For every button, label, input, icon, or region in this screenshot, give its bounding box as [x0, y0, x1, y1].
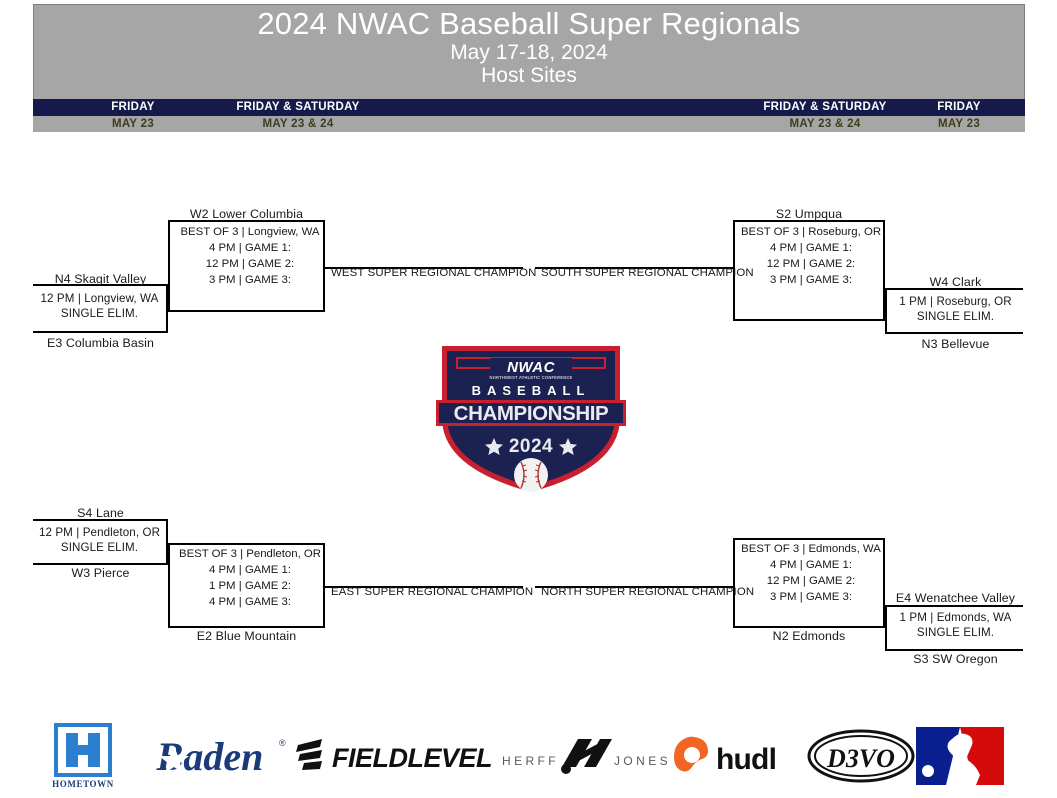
- east-playin-format: SINGLE ELIM.: [33, 541, 166, 554]
- logo-org-subtext: NORTHWEST ATHLETIC CONFERENCE: [490, 375, 573, 380]
- east-champion-label: EAST SUPER REGIONAL CHAMPION: [331, 586, 533, 598]
- south-playin-top-seed: W4 Clark: [888, 275, 1023, 289]
- south-playin-bottom-seed: N3 Bellevue: [888, 337, 1023, 351]
- east-series-bottom-seed: E2 Blue Mountain: [168, 629, 325, 643]
- north-series-format: BEST OF 3 | Edmonds, WA: [738, 541, 884, 557]
- south-series-game-1: 4 PM | GAME 1:: [738, 240, 884, 256]
- south-champion-label: SOUTH SUPER REGIONAL CHAMPION: [541, 267, 754, 279]
- north-series-bottom-seed: N2 Edmonds: [733, 629, 885, 643]
- east-series-game-3: 4 PM | GAME 3:: [175, 594, 325, 610]
- schedule-date-4: MAY 23: [893, 116, 1025, 132]
- page-dates: May 17-18, 2024: [33, 42, 1025, 64]
- schedule-date-row: MAY 23 MAY 23 & 24 MAY 23 & 24 MAY 23: [33, 116, 1025, 132]
- west-playin-top-seed: N4 Skagit Valley: [33, 272, 168, 286]
- sponsor-mlb: [912, 714, 1008, 798]
- logo-org-text: NWAC: [507, 359, 555, 376]
- sponsor-herff-jones: HERFF JONES.: [500, 714, 670, 798]
- schedule-day-row: FRIDAY FRIDAY & SATURDAY FRIDAY & SATURD…: [33, 99, 1025, 116]
- hometown-caption: HOMETOWN: [52, 779, 114, 789]
- herff-text: HERFF: [502, 754, 559, 768]
- hometown-icon: HOMETOWN: [38, 719, 128, 793]
- schedule-day-2: FRIDAY & SATURDAY: [178, 99, 418, 116]
- south-series-game-2: 12 PM | GAME 2:: [738, 256, 884, 272]
- east-series-format: BEST OF 3 | Pendleton, OR: [175, 546, 325, 562]
- west-playin-info: 12 PM | Longview, WA: [33, 292, 166, 305]
- herff-jones-mark: [561, 739, 612, 774]
- schedule-date-2: MAY 23 & 24: [178, 116, 418, 132]
- west-series-top-seed: W2 Lower Columbia: [168, 207, 325, 221]
- west-playin-format: SINGLE ELIM.: [33, 307, 166, 320]
- page-title: 2024 NWAC Baseball Super Regionals: [33, 8, 1025, 40]
- north-series-game-2: 12 PM | GAME 2:: [738, 573, 884, 589]
- west-series-game-3: 3 PM | GAME 3:: [175, 272, 325, 288]
- north-playin-top-seed: E4 Wenatchee Valley: [888, 591, 1023, 605]
- mlb-icon: [912, 721, 1008, 791]
- header-title-block: 2024 NWAC Baseball Super Regionals May 1…: [33, 8, 1025, 87]
- south-playin-info: 1 PM | Roseburg, OR: [888, 295, 1023, 308]
- fieldlevel-icon: FIELDLEVEL: [296, 733, 496, 779]
- hudl-icon: hudl: [672, 731, 802, 781]
- herff-jones-icon: HERFF JONES.: [500, 733, 670, 779]
- schedule-day-4: FRIDAY: [893, 99, 1025, 116]
- east-series-details: BEST OF 3 | Pendleton, OR 4 PM | GAME 1:…: [175, 546, 325, 610]
- logo-event-text: CHAMPIONSHIP: [454, 402, 609, 425]
- sponsor-hudl: hudl: [672, 714, 802, 798]
- east-playin-bottom-seed: W3 Pierce: [33, 566, 168, 580]
- south-series-game-3: 3 PM | GAME 3:: [738, 272, 884, 288]
- east-series-game-1: 4 PM | GAME 1:: [175, 562, 325, 578]
- north-series-game-1: 4 PM | GAME 1:: [738, 557, 884, 573]
- east-series-game-2: 1 PM | GAME 2:: [175, 578, 325, 594]
- logo-year-text: 2024: [509, 436, 553, 457]
- jones-text: JONES.: [614, 754, 670, 768]
- north-playin-bottom-seed: S3 SW Oregon: [888, 652, 1023, 666]
- north-series-game-3: 3 PM | GAME 3:: [738, 589, 884, 605]
- north-playin-format: SINGLE ELIM.: [888, 626, 1023, 639]
- north-champion-label: NORTH SUPER REGIONAL CHAMPION: [541, 586, 754, 598]
- sponsor-hometown: HOMETOWN: [38, 714, 128, 798]
- west-champion-label: WEST SUPER REGIONAL CHAMPION: [331, 267, 536, 279]
- hudl-wordmark: hudl: [716, 743, 776, 776]
- logo-baseball: [514, 458, 548, 492]
- page-subtitle: Host Sites: [33, 65, 1025, 87]
- south-series-details: BEST OF 3 | Roseburg, OR 4 PM | GAME 1: …: [738, 224, 884, 288]
- north-series-details: BEST OF 3 | Edmonds, WA 4 PM | GAME 1: 1…: [738, 541, 884, 605]
- fieldlevel-mark: [296, 739, 322, 770]
- championship-logo-svg: NWAC NORTHWEST ATHLETIC CONFERENCE BASEB…: [432, 338, 630, 496]
- svg-text:®: ®: [279, 738, 286, 748]
- south-series-top-seed: S2 Umpqua: [733, 207, 885, 221]
- east-playin-top-seed: S4 Lane: [33, 506, 168, 520]
- west-series-game-1: 4 PM | GAME 1:: [175, 240, 325, 256]
- sponsor-baden: Baden ®: [130, 714, 290, 798]
- d3vo-wordmark: D3VO: [826, 744, 895, 773]
- fieldlevel-wordmark: FIELDLEVEL: [332, 743, 492, 773]
- bracket-page: 2024 NWAC Baseball Super Regionals May 1…: [0, 0, 1057, 798]
- west-series-details: BEST OF 3 | Longview, WA 4 PM | GAME 1: …: [175, 224, 325, 288]
- baden-icon: Baden ®: [130, 726, 290, 786]
- west-playin-bottom-seed: E3 Columbia Basin: [33, 336, 168, 350]
- north-playin-info: 1 PM | Edmonds, WA: [888, 611, 1023, 624]
- sponsor-d3vo: D3VO: [806, 714, 916, 798]
- logo-sport-text: BASEBALL: [472, 383, 591, 398]
- sponsor-bar: HOMETOWN Baden ® FIELDLEVEL HERFF: [0, 714, 1057, 798]
- east-playin-info: 12 PM | Pendleton, OR: [33, 526, 166, 539]
- west-series-game-2: 12 PM | GAME 2:: [175, 256, 325, 272]
- west-series-format: BEST OF 3 | Longview, WA: [175, 224, 325, 240]
- south-series-format: BEST OF 3 | Roseburg, OR: [738, 224, 884, 240]
- sponsor-fieldlevel: FIELDLEVEL: [296, 714, 496, 798]
- championship-logo: NWAC NORTHWEST ATHLETIC CONFERENCE BASEB…: [432, 338, 630, 496]
- south-playin-format: SINGLE ELIM.: [888, 310, 1023, 323]
- d3vo-icon: D3VO: [806, 727, 916, 785]
